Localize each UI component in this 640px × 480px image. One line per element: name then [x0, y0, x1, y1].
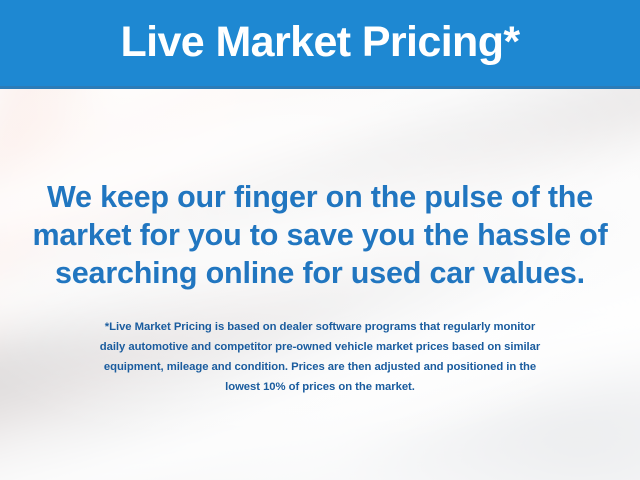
- header-banner: Live Market Pricing*: [0, 0, 640, 86]
- headline-line-1: We keep our finger on the pulse of the: [18, 178, 622, 216]
- banner-title: Live Market Pricing*: [120, 21, 519, 66]
- disclaimer-line-3: equipment, mileage and condition. Prices…: [20, 357, 620, 377]
- headline-line-3: searching online for used car values.: [18, 254, 622, 292]
- disclaimer-text: *Live Market Pricing is based on dealer …: [20, 317, 620, 397]
- disclaimer-line-1: *Live Market Pricing is based on dealer …: [20, 317, 620, 337]
- disclaimer-line-4: lowest 10% of prices on the market.: [20, 377, 620, 397]
- banner-bottom-rule: [0, 86, 640, 89]
- headline-line-2: market for you to save you the hassle of: [18, 216, 622, 254]
- headline: We keep our finger on the pulse of the m…: [18, 178, 622, 292]
- live-market-pricing-banner-graphic: Live Market Pricing* We keep our finger …: [0, 0, 640, 480]
- disclaimer-line-2: daily automotive and competitor pre-owne…: [20, 337, 620, 357]
